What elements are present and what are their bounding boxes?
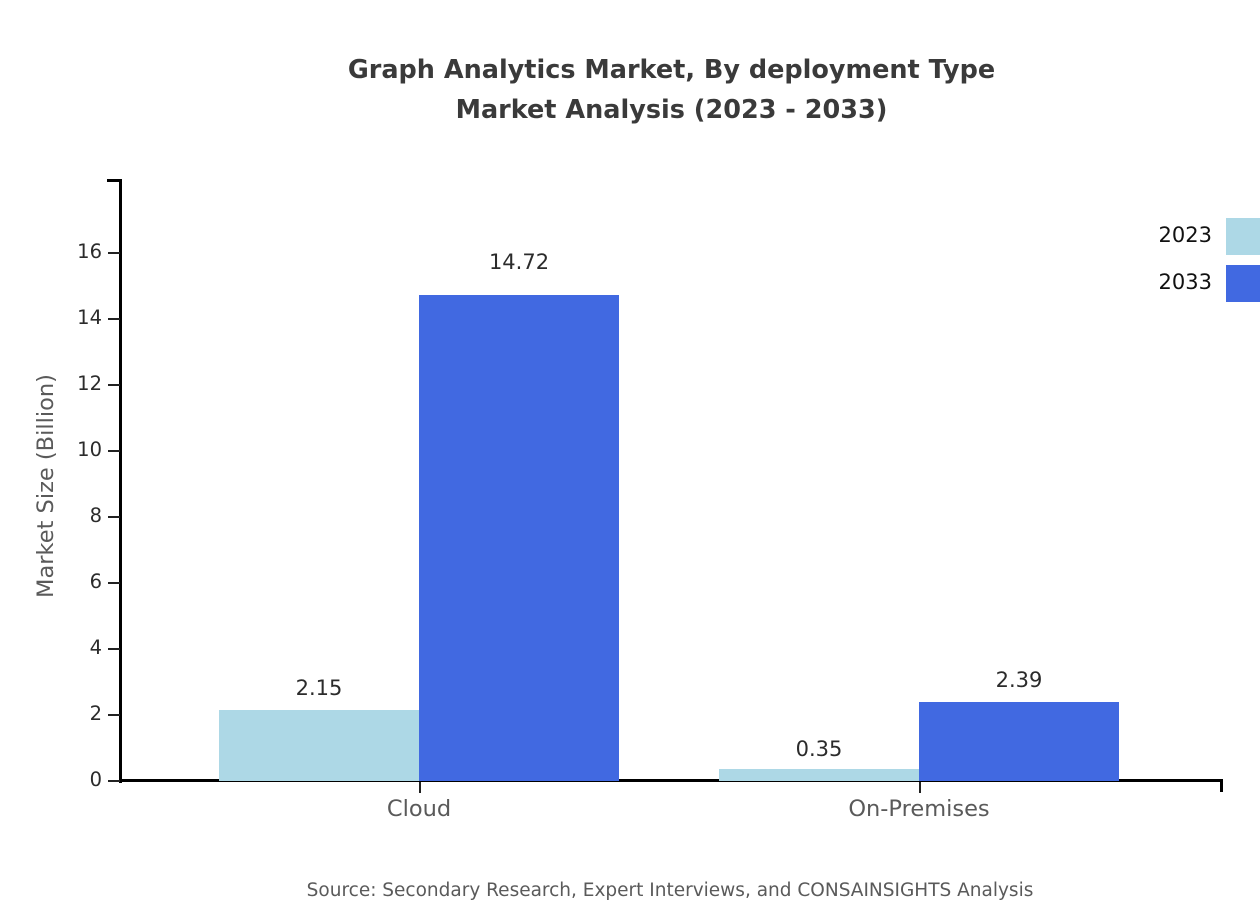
chart-title-line-1: Graph Analytics Market, By deployment Ty… xyxy=(0,50,1260,90)
bar-on-premises-2033[interactable] xyxy=(919,702,1119,781)
chart-title: Graph Analytics Market, By deployment Ty… xyxy=(0,50,1260,130)
y-tick-label-0: 0 xyxy=(90,770,102,790)
x-tick-on-premises xyxy=(919,782,921,793)
legend-item-2033[interactable]: 2033 xyxy=(1120,265,1260,312)
bar-value-on-premises-2033: 2.39 xyxy=(919,668,1119,692)
legend-swatch-2023 xyxy=(1226,218,1260,255)
x-axis-end-cap xyxy=(1220,779,1223,792)
y-tick-14 xyxy=(108,318,120,320)
x-tick-label-on-premises: On-Premises xyxy=(819,794,1019,824)
chart-title-line-2: Market Analysis (2023 - 2033) xyxy=(0,90,1260,130)
y-tick-label-8: 8 xyxy=(90,506,102,526)
y-tick-16 xyxy=(108,252,120,254)
bar-value-cloud-2033: 14.72 xyxy=(419,250,619,274)
legend-label-2033: 2033 xyxy=(1159,269,1212,295)
y-tick-8 xyxy=(108,516,120,518)
source-note: Source: Secondary Research, Expert Inter… xyxy=(0,878,1260,904)
y-tick-4 xyxy=(108,648,120,650)
y-tick-label-4: 4 xyxy=(90,638,102,658)
y-axis-title: Market Size (Billion) xyxy=(33,226,59,746)
y-tick-0 xyxy=(108,780,120,782)
y-tick-10 xyxy=(108,450,120,452)
y-tick-label-10: 10 xyxy=(77,440,102,460)
bar-value-cloud-2023: 2.15 xyxy=(219,676,419,700)
y-tick-label-16: 16 xyxy=(77,242,102,262)
bar-cloud-2033[interactable] xyxy=(419,295,619,781)
legend-swatch-2033 xyxy=(1226,265,1260,302)
y-axis-top-cap xyxy=(107,179,120,182)
legend-label-2023: 2023 xyxy=(1159,222,1212,248)
y-tick-2 xyxy=(108,714,120,716)
legend-item-2023[interactable]: 2023 xyxy=(1120,218,1260,265)
y-tick-label-14: 14 xyxy=(77,308,102,328)
chart-legend: 2023 2033 xyxy=(1120,218,1260,312)
x-tick-label-cloud: Cloud xyxy=(319,794,519,824)
x-tick-cloud xyxy=(419,782,421,793)
bar-cloud-2023[interactable] xyxy=(219,710,419,781)
y-axis-line xyxy=(119,179,122,783)
y-tick-label-6: 6 xyxy=(90,572,102,592)
y-tick-12 xyxy=(108,384,120,386)
bar-on-premises-2023[interactable] xyxy=(719,769,919,781)
y-tick-6 xyxy=(108,582,120,584)
bar-value-on-premises-2023: 0.35 xyxy=(719,737,919,761)
y-tick-label-2: 2 xyxy=(90,704,102,724)
y-tick-label-12: 12 xyxy=(77,374,102,394)
chart-figure: Graph Analytics Market, By deployment Ty… xyxy=(0,0,1260,920)
